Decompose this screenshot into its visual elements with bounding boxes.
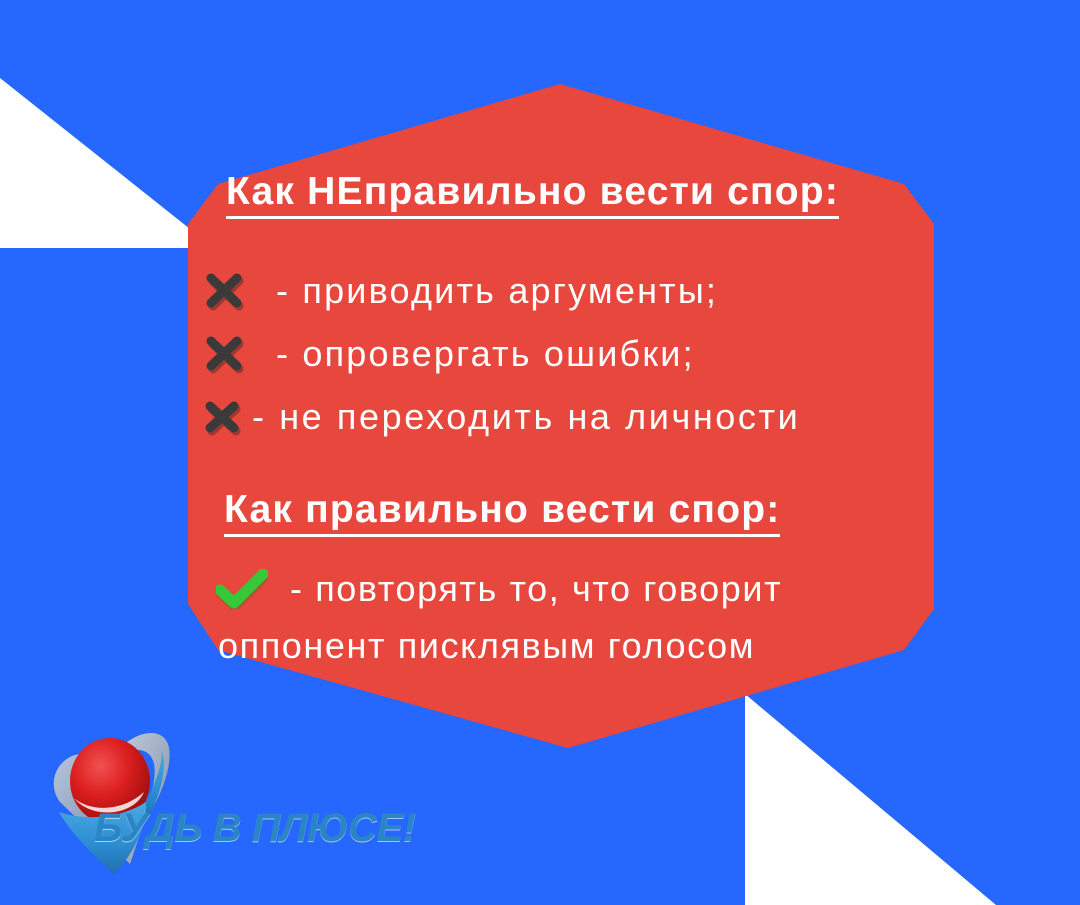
list-item: - повторять то, что говорит — [216, 568, 782, 610]
x-mark-icon — [204, 333, 246, 375]
card-content: Как НЕправильно вести спор: - приводить … — [188, 84, 934, 748]
list-item-label: - повторять то, что говорит — [290, 568, 782, 610]
list-item: - опровергать ошибки; — [204, 333, 695, 375]
poster-canvas: Как НЕправильно вести спор: - приводить … — [0, 0, 1080, 905]
list-item: - не переходить на личности — [202, 396, 800, 438]
list-item-label: - опровергать ошибки; — [276, 333, 695, 375]
list-item-label: - не переходить на личности — [252, 396, 800, 438]
logo-wordmark: БУДЬ В ПЛЮСЕ! — [94, 806, 416, 851]
list-item-label-continuation: оппонент писклявым голосом — [218, 625, 755, 667]
person-swoosh-logo-icon — [22, 724, 434, 876]
x-mark-icon — [202, 396, 244, 438]
check-mark-icon — [216, 569, 268, 609]
list-item: - приводить аргументы; — [204, 270, 718, 312]
list-item-label: - приводить аргументы; — [276, 270, 718, 312]
heading-how-to-argue: Как правильно вести спор: — [224, 490, 780, 537]
heading-how-not-to-argue: Как НЕправильно вести спор: — [226, 172, 839, 219]
x-mark-icon — [204, 270, 246, 312]
